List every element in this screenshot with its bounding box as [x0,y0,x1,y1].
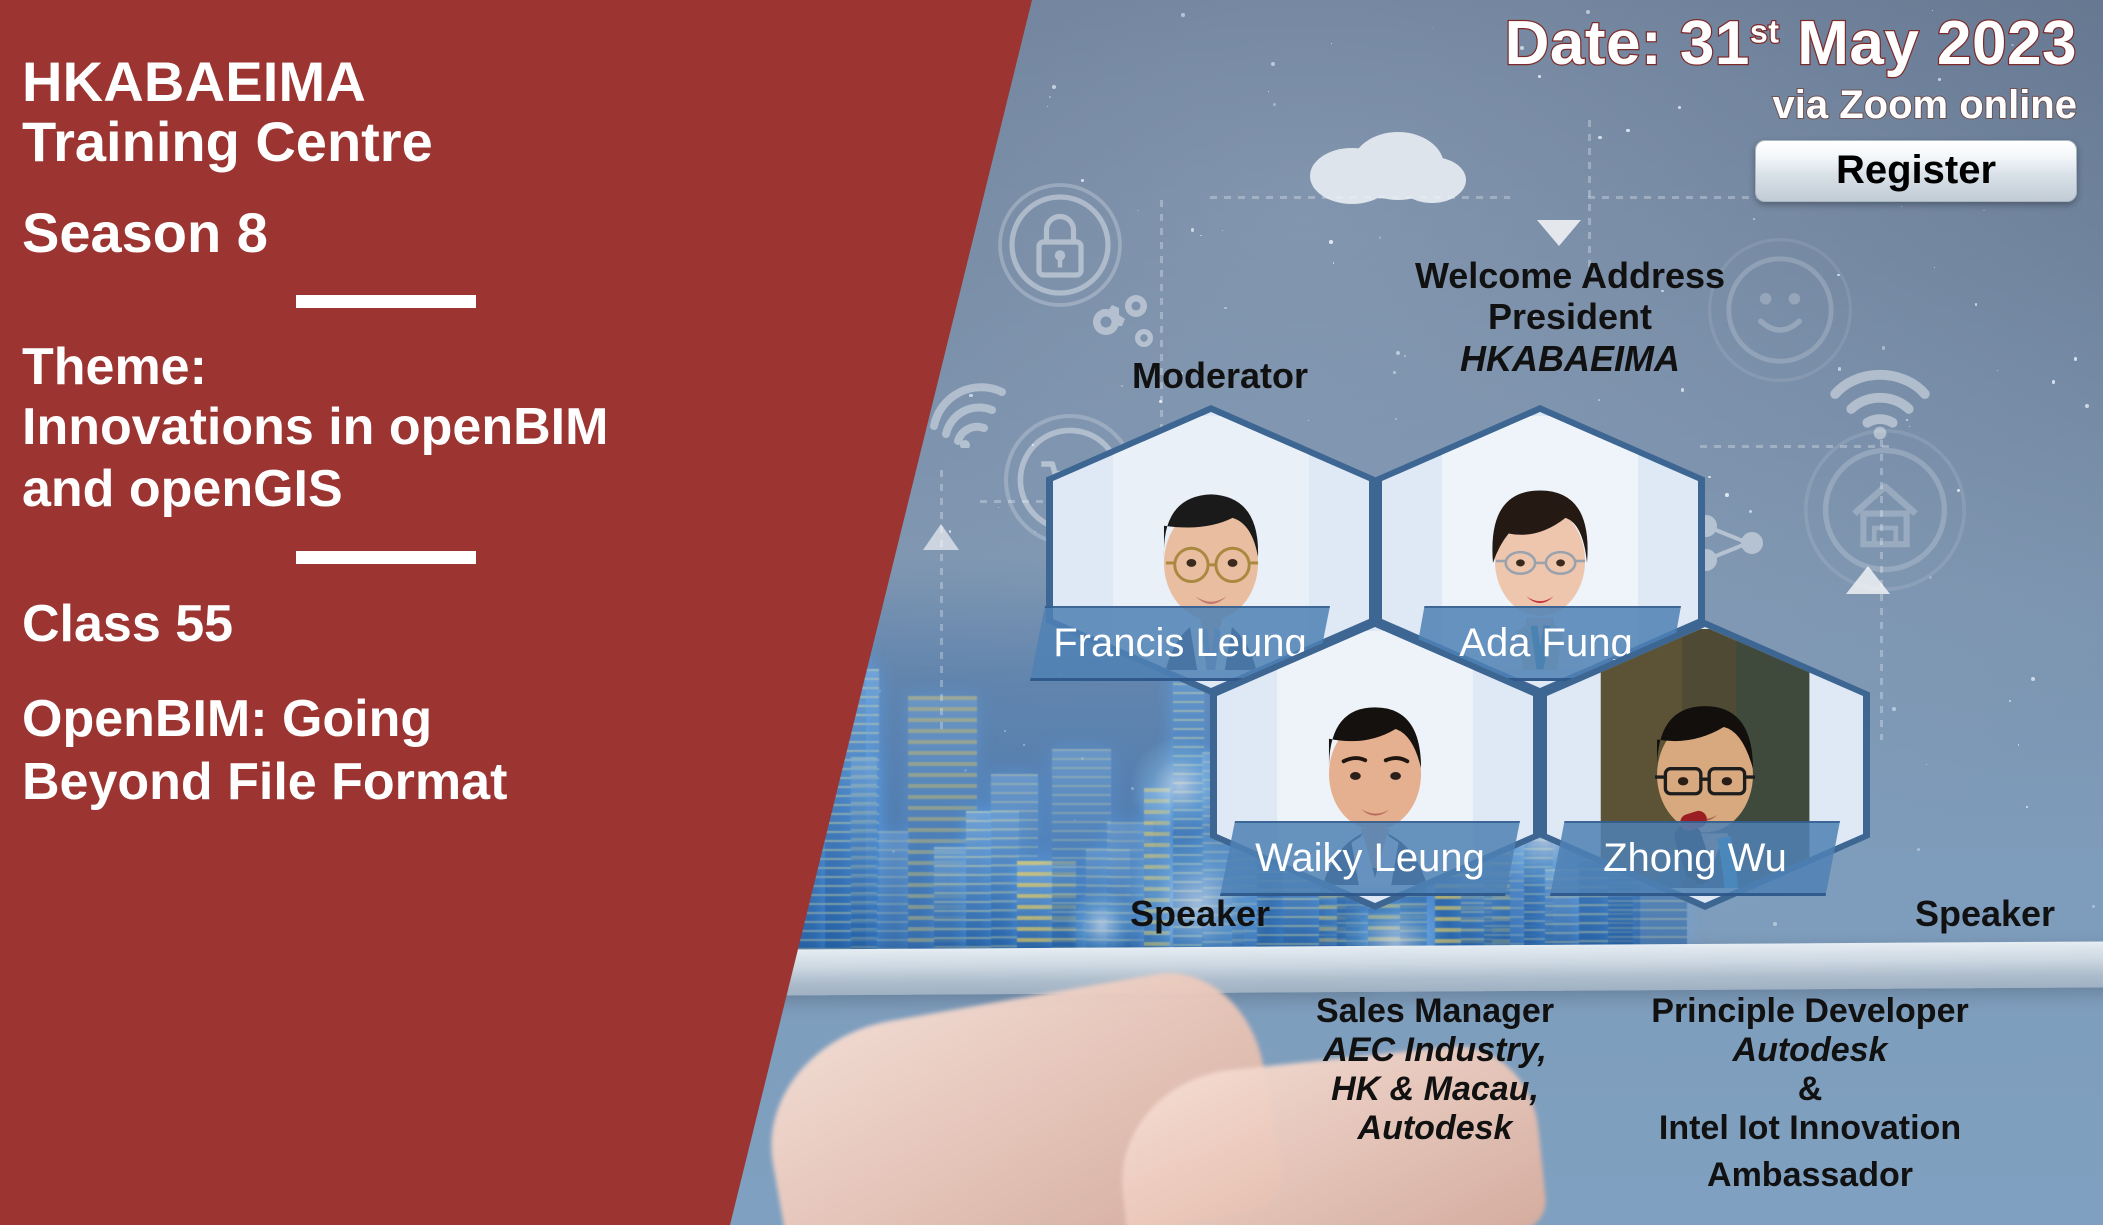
speaker-name-label: Waiky Leung [1220,821,1520,896]
role-label-moderator: Moderator [1090,355,1350,396]
arrow-up-icon [918,520,964,554]
connector-line [940,470,943,730]
date-prefix: Date: 31 [1505,9,1750,78]
role-welcome-address: Welcome Address [1405,255,1735,296]
caption-zhong-wu: Principle Developer Autodesk & Intel Iot… [1610,992,2010,1195]
role-president: President [1405,296,1735,337]
date-suffix: May 2023 [1780,9,2078,78]
talk-title-line1: OpenBIM: Going [22,688,922,751]
tablet-edge [600,941,2103,996]
theme-line1: Innovations in openBIM [22,396,922,458]
season-label: Season 8 [22,200,922,265]
speaker-card-waiky-leung[interactable]: Waiky Leung [1210,620,1540,910]
caption-title: Principle Developer [1610,992,2010,1031]
cloud-icon [1290,112,1480,217]
event-header: Date: 31st May 2023 via Zoom online Regi… [1505,8,2077,202]
caption-ampersand: & [1610,1070,2010,1109]
register-button[interactable]: Register [1755,140,2077,202]
caption-company: Autodesk [1610,1031,2010,1070]
speaker-name-label: Zhong Wu [1550,821,1840,896]
class-number: Class 55 [22,594,922,654]
event-poster: HKABAEIMA Training Centre Season 8 Theme… [0,0,2103,1225]
theme-line2: and openGIS [22,458,922,520]
role-label-speaker-right: Speaker [1880,893,2090,934]
role-org-hkabaeima: HKABAEIMA [1405,338,1735,379]
caption-org: Intel Iot Innovation [1610,1109,2010,1148]
caption-line-1: AEC Industry, [1270,1031,1600,1070]
left-info-panel: HKABAEIMA Training Centre Season 8 Theme… [22,52,922,814]
divider-rule-bottom [296,551,476,564]
role-label-speaker-left: Speaker [1095,893,1305,934]
caption-role: Ambassador [1610,1156,2010,1195]
caption-line-3: Autodesk [1270,1109,1600,1148]
date-ordinal: st [1750,13,1780,49]
caption-title: Sales Manager [1270,992,1600,1031]
arrow-up-icon [1840,560,1896,600]
role-block-president: Welcome Address President HKABAEIMA [1405,255,1735,379]
event-date: Date: 31st May 2023 [1505,8,2077,79]
arrow-down-icon [1529,212,1589,252]
org-name-line2: Training Centre [22,112,922,172]
speaker-card-zhong-wu[interactable]: Zhong Wu [1540,620,1870,910]
caption-line-2: HK & Macau, [1270,1070,1600,1109]
theme-label: Theme: [22,338,922,396]
divider-rule-top [296,295,476,308]
caption-waiky-leung: Sales Manager AEC Industry, HK & Macau, … [1270,992,1600,1148]
org-name-line1: HKABAEIMA [22,52,922,112]
talk-title-line2: Beyond File Format [22,751,922,813]
event-platform: via Zoom online [1505,83,2077,128]
